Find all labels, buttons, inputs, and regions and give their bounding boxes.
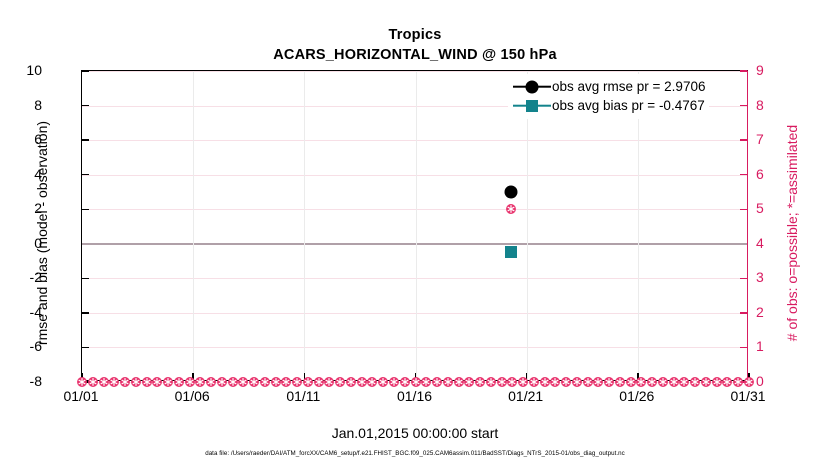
obs-count-marker bbox=[614, 377, 625, 388]
y-axis-left-tick bbox=[82, 70, 89, 71]
y-axis-right-tick-label: 0 bbox=[756, 373, 764, 389]
horizontal-gridline bbox=[82, 140, 747, 141]
obs-count-marker bbox=[184, 377, 195, 388]
y-axis-left-tick-label: -4 bbox=[30, 304, 42, 320]
legend-symbol bbox=[512, 97, 552, 114]
y-axis-right-tick bbox=[740, 209, 747, 210]
rmse-data-point bbox=[505, 185, 518, 198]
obs-count-marker bbox=[109, 377, 120, 388]
chart-subtitle: ACARS_HORIZONTAL_WIND @ 150 hPa bbox=[0, 45, 830, 65]
x-axis-tick-label: 01/26 bbox=[619, 388, 654, 404]
obs-count-marker bbox=[582, 377, 593, 388]
obs-count-marker bbox=[711, 377, 722, 388]
obs-count-marker bbox=[733, 377, 744, 388]
obs-count-marker bbox=[464, 377, 475, 388]
obs-count-marker bbox=[593, 377, 604, 388]
y-axis-left-tick-label: 2 bbox=[34, 200, 42, 216]
obs-count-marker bbox=[421, 377, 432, 388]
obs-count-marker bbox=[668, 377, 679, 388]
legend-label: obs avg rmse pr = 2.9706 bbox=[552, 77, 705, 96]
horizontal-gridline bbox=[82, 175, 747, 176]
obs-count-marker bbox=[216, 377, 227, 388]
obs-count-marker bbox=[227, 377, 238, 388]
y-axis-left-tick-label: 4 bbox=[34, 166, 42, 182]
obs-count-marker bbox=[98, 377, 109, 388]
obs-count-marker bbox=[571, 377, 582, 388]
obs-count-marker bbox=[432, 377, 443, 388]
obs-count-marker bbox=[442, 377, 453, 388]
y-axis-left-tick bbox=[82, 278, 89, 279]
obs-count-marker bbox=[367, 377, 378, 388]
obs-count-marker bbox=[77, 377, 88, 388]
horizontal-gridline bbox=[82, 278, 747, 279]
y-axis-right-tick-label: 6 bbox=[756, 166, 764, 182]
obs-count-marker bbox=[518, 377, 529, 388]
y-axis-left-tick bbox=[82, 105, 89, 106]
obs-count-marker bbox=[163, 377, 174, 388]
obs-count-marker bbox=[206, 377, 217, 388]
x-axis-tick-label: 01/21 bbox=[508, 388, 543, 404]
obs-count-marker bbox=[657, 377, 668, 388]
obs-count-marker bbox=[120, 377, 131, 388]
obs-count-marker bbox=[195, 377, 206, 388]
obs-count-marker bbox=[690, 377, 701, 388]
y-axis-right-label: # of obs: o=possible; *=assimilated bbox=[784, 78, 800, 388]
obs-count-marker bbox=[722, 377, 733, 388]
y-axis-right-tick-label: 1 bbox=[756, 338, 764, 354]
y-axis-left-tick bbox=[82, 209, 89, 210]
obs-count-marker bbox=[130, 377, 141, 388]
y-axis-right-tick-label: 8 bbox=[756, 97, 764, 113]
obs-count-marker bbox=[356, 377, 367, 388]
obs-count-marker bbox=[259, 377, 270, 388]
obs-count-marker bbox=[281, 377, 292, 388]
y-axis-left-tick-label: 0 bbox=[34, 235, 42, 251]
obs-count-marker bbox=[496, 377, 507, 388]
y-axis-right-tick-label: 4 bbox=[756, 235, 764, 251]
obs-count-marker bbox=[141, 377, 152, 388]
y-axis-right-tick-label: 7 bbox=[756, 131, 764, 147]
x-axis-tick-label: 01/31 bbox=[730, 388, 765, 404]
obs-count-marker bbox=[238, 377, 249, 388]
y-axis-right-tick bbox=[740, 278, 747, 279]
y-axis-left-tick bbox=[82, 312, 89, 313]
x-axis-tick-label: 01/11 bbox=[286, 388, 320, 404]
obs-count-marker bbox=[388, 377, 399, 388]
legend-item: obs avg bias pr = -0.4767 bbox=[512, 96, 705, 115]
obs-count-marker bbox=[399, 377, 410, 388]
y-axis-left-tick-label: -6 bbox=[30, 338, 42, 354]
obs-count-marker bbox=[410, 377, 421, 388]
y-axis-left-tick bbox=[82, 139, 89, 140]
obs-count-marker bbox=[604, 377, 615, 388]
zero-reference-line bbox=[82, 243, 747, 245]
obs-count-marker bbox=[507, 377, 518, 388]
obs-count-marker bbox=[249, 377, 260, 388]
obs-count-marker bbox=[453, 377, 464, 388]
obs-count-marker bbox=[700, 377, 711, 388]
y-axis-right-tick-label: 3 bbox=[756, 269, 764, 285]
obs-count-marker bbox=[173, 377, 184, 388]
legend-label: obs avg bias pr = -0.4767 bbox=[552, 96, 705, 115]
data-file-note: data file: /Users/raeder/DAI/ATM_forcXX/… bbox=[0, 450, 830, 457]
obs-count-marker bbox=[485, 377, 496, 388]
x-axis-tick-label: 01/01 bbox=[63, 388, 98, 404]
obs-count-marker bbox=[378, 377, 389, 388]
y-axis-right-tick bbox=[740, 312, 747, 313]
x-axis-tick-label: 01/06 bbox=[175, 388, 210, 404]
obs-count-marker bbox=[87, 377, 98, 388]
obs-assimilated-marker bbox=[506, 204, 517, 215]
obs-count-marker bbox=[647, 377, 658, 388]
y-axis-left-tick bbox=[82, 174, 89, 175]
page-title: Tropics bbox=[0, 26, 830, 45]
y-axis-right-tick bbox=[740, 70, 747, 71]
y-axis-left-tick-label: -8 bbox=[30, 373, 42, 389]
obs-count-marker bbox=[561, 377, 572, 388]
y-axis-right-tick-label: 9 bbox=[756, 62, 764, 78]
obs-count-marker bbox=[324, 377, 335, 388]
y-axis-right-tick bbox=[740, 347, 747, 348]
y-axis-left-tick-label: 6 bbox=[34, 131, 42, 147]
vertical-gridline bbox=[304, 71, 305, 380]
y-axis-right-tick-label: 5 bbox=[756, 200, 764, 216]
y-axis-right-tick-label: 2 bbox=[756, 304, 764, 320]
chart-legend: obs avg rmse pr = 2.9706obs avg bias pr … bbox=[508, 74, 709, 119]
chart-title-block: Tropics ACARS_HORIZONTAL_WIND @ 150 hPa bbox=[0, 26, 830, 65]
y-axis-right-tick bbox=[740, 139, 747, 140]
y-axis-right-tick bbox=[740, 105, 747, 106]
y-axis-left-tick bbox=[82, 347, 89, 348]
horizontal-gridline bbox=[82, 71, 747, 72]
vertical-gridline bbox=[193, 71, 194, 380]
obs-count-marker bbox=[270, 377, 281, 388]
y-axis-right-tick bbox=[740, 174, 747, 175]
legend-item: obs avg rmse pr = 2.9706 bbox=[512, 77, 705, 96]
obs-count-marker bbox=[625, 377, 636, 388]
y-axis-left-tick-label: 10 bbox=[26, 62, 42, 78]
legend-square-icon bbox=[526, 100, 538, 112]
x-axis-label: Jan.01,2015 00:00:00 start bbox=[0, 425, 830, 441]
obs-count-marker bbox=[345, 377, 356, 388]
obs-count-marker bbox=[539, 377, 550, 388]
obs-count-marker bbox=[550, 377, 561, 388]
horizontal-gridline bbox=[82, 347, 747, 348]
obs-count-marker bbox=[744, 377, 755, 388]
obs-count-marker bbox=[313, 377, 324, 388]
horizontal-gridline bbox=[82, 313, 747, 314]
obs-count-marker bbox=[302, 377, 313, 388]
obs-count-marker bbox=[528, 377, 539, 388]
obs-count-marker bbox=[679, 377, 690, 388]
legend-circle-icon bbox=[526, 80, 539, 93]
obs-count-marker bbox=[475, 377, 486, 388]
obs-count-marker bbox=[335, 377, 346, 388]
obs-count-marker bbox=[152, 377, 163, 388]
obs-count-marker bbox=[636, 377, 647, 388]
legend-symbol bbox=[512, 78, 552, 95]
obs-count-marker bbox=[292, 377, 303, 388]
horizontal-gridline bbox=[82, 209, 747, 210]
y-axis-left-tick-label: -2 bbox=[30, 269, 42, 285]
bias-data-point bbox=[505, 246, 517, 258]
vertical-gridline bbox=[416, 71, 417, 380]
y-axis-left-tick-label: 8 bbox=[34, 97, 42, 113]
x-axis-tick-label: 01/16 bbox=[397, 388, 432, 404]
